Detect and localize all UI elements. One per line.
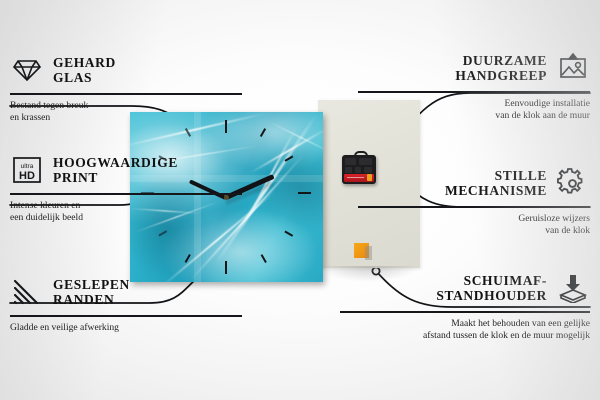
gear-icon <box>556 166 590 200</box>
divider <box>10 193 242 195</box>
feature-title: DUURZAMEHANDGREEP <box>455 53 547 83</box>
divider <box>340 311 590 313</box>
feature-title: STILLEMECHANISME <box>445 168 547 198</box>
feature-description: Bestand tegen breuken krassen <box>10 100 242 125</box>
feature-description: Geruisloze wijzersvan de klok <box>358 213 590 238</box>
feature-hoogwaardige-print: ultra HD HOOGWAARDIGEPRINT Intense kleur… <box>10 150 242 225</box>
tick-3 <box>298 192 311 194</box>
divider <box>358 206 590 208</box>
infographic-canvas: GEHARDGLAS Bestand tegen breuken krassen… <box>0 0 600 400</box>
feature-schuimafstandhouder: SCHUIMAF-STANDHOUDER Maakt het behouden … <box>340 268 590 343</box>
diamond-icon <box>10 53 44 87</box>
beveled-edge-icon <box>10 275 44 309</box>
divider <box>10 93 242 95</box>
picture-hanger-icon <box>556 51 590 85</box>
feature-title: HOOGWAARDIGEPRINT <box>53 155 178 185</box>
foam-spacer-icon <box>556 271 590 305</box>
feature-title: GEHARDGLAS <box>53 55 116 85</box>
ultra-hd-icon: ultra HD <box>10 153 44 187</box>
feature-description: Eenvoudige installatievan de klok aan de… <box>358 98 590 123</box>
feature-geslepen-randen: GESLEPENRANDEN Gladde en veilige afwerki… <box>10 272 242 334</box>
foam-spacer-pad <box>354 243 369 258</box>
feature-title: SCHUIMAF-STANDHOUDER <box>436 273 547 303</box>
feature-description: Gladde en veilige afwerking <box>10 322 242 335</box>
svg-text:HD: HD <box>19 170 35 182</box>
feature-description: Intense kleuren eneen duidelijk beeld <box>10 200 242 225</box>
feature-title: GESLEPENRANDEN <box>53 277 130 307</box>
divider <box>358 91 590 93</box>
divider <box>10 315 242 317</box>
svg-text:ultra: ultra <box>21 163 34 170</box>
feature-description: Maakt het behouden van een gelijkeafstan… <box>340 318 590 343</box>
feature-stille-mechanisme: STILLEMECHANISME Geruisloze wijzersvan d… <box>358 163 590 238</box>
feature-duurzame-handgreep: DUURZAMEHANDGREEP Eenvoudige installatie… <box>358 48 590 123</box>
feature-gehard-glas: GEHARDGLAS Bestand tegen breuken krassen <box>10 50 242 125</box>
